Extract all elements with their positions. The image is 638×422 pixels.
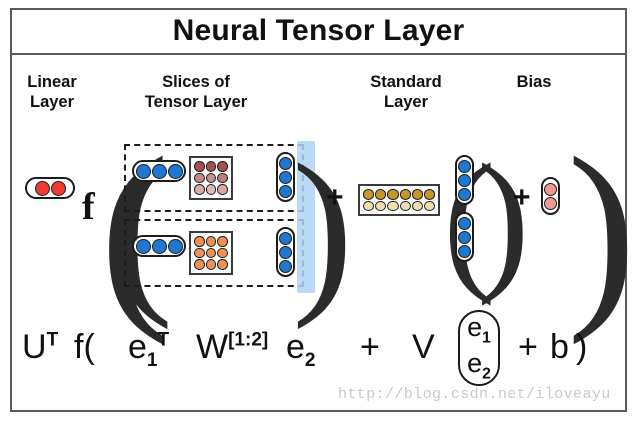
standard-layer-column-dot xyxy=(458,188,471,201)
watermark: http://blog.csdn.net/iloveayu xyxy=(338,386,611,403)
tensor-group-close-paren: ) xyxy=(292,136,353,320)
standard-layer-matrix-dot xyxy=(375,201,386,212)
standard-layer-matrix-dot xyxy=(424,201,435,212)
slice-1-matrix-dot xyxy=(194,173,205,184)
standard-layer-matrix-dot xyxy=(375,189,386,200)
caption-bias: Bias xyxy=(498,72,570,92)
standard-layer-column-dot xyxy=(458,245,471,258)
slice-2-matrix-dot xyxy=(206,259,217,270)
standard-layer-column-vector-group-2 xyxy=(455,212,474,262)
standard-layer-matrix-dot xyxy=(400,189,411,200)
slice-1-matrix-dot xyxy=(206,173,217,184)
slice-1-column-dot xyxy=(279,157,292,170)
bias-vector xyxy=(541,177,560,215)
page-title: Neural Tensor Layer xyxy=(173,14,465,48)
standard-layer-matrix-dot xyxy=(424,189,435,200)
slice-2-column-dot xyxy=(279,232,292,245)
slice-1-matrix-dot xyxy=(194,161,205,172)
formula-v: V xyxy=(412,330,435,364)
linear-layer-vector xyxy=(25,177,75,199)
standard-layer-column-vector-group-1 xyxy=(455,155,474,205)
standard-layer-matrix-dot xyxy=(363,201,374,212)
formula-b: b xyxy=(550,330,569,364)
caption-linear-layer: Linear Layer xyxy=(14,72,90,112)
slice-2-column-dot xyxy=(279,260,292,273)
slice-2-row-dot xyxy=(168,239,183,254)
activation-function-symbol: f xyxy=(82,188,95,226)
standard-vector-close-paren: ) xyxy=(477,141,530,299)
standard-layer-matrix-dot xyxy=(412,201,423,212)
standard-layer-column-dot xyxy=(458,231,471,244)
slice-1-row-vector xyxy=(132,160,186,182)
plus-operator-standard: + xyxy=(326,183,344,213)
standard-layer-matrix xyxy=(358,184,440,216)
formula-plus-1: + xyxy=(360,330,380,364)
slice-2-matrix-dot xyxy=(217,236,228,247)
diagram-page: Neural Tensor Layer Linear Layer Slices … xyxy=(0,0,638,422)
bias-dot xyxy=(544,183,557,196)
caption-standard-layer: Standard Layer xyxy=(345,72,467,112)
caption-slices-of-tensor-layer: Slices of Tensor Layer xyxy=(112,72,280,112)
slice-2-matrix-dot xyxy=(217,259,228,270)
slice-2-row-dot xyxy=(152,239,167,254)
formula-close-paren: ) xyxy=(576,330,587,364)
slice-2-matrix-dot xyxy=(206,248,217,259)
plus-operator-bias: + xyxy=(513,183,531,213)
slice-2-matrix-dot xyxy=(194,248,205,259)
standard-layer-matrix-dot xyxy=(400,201,411,212)
slice-2-matrix xyxy=(189,231,233,275)
title-bar: Neural Tensor Layer xyxy=(10,8,627,55)
standard-layer-matrix-dot xyxy=(412,189,423,200)
slice-1-matrix-dot xyxy=(217,184,228,195)
standard-layer-matrix-dot xyxy=(363,189,374,200)
formula-u: UT xyxy=(22,330,58,364)
standard-layer-column-dot xyxy=(458,174,471,187)
outer-close-paren: ) xyxy=(567,126,636,334)
slice-2-matrix-dot xyxy=(217,248,228,259)
slice-2-column-dot xyxy=(279,246,292,259)
slice-1-column-dot xyxy=(279,185,292,198)
formula-vec-e2: e2 xyxy=(467,350,491,382)
formula-f-open: f( xyxy=(74,330,95,364)
standard-layer-matrix-dot xyxy=(387,189,398,200)
slice-1-matrix-dot xyxy=(217,161,228,172)
slice-2-matrix-dot xyxy=(194,236,205,247)
linear-layer-dot xyxy=(51,181,66,196)
slice-1-matrix-dot xyxy=(206,184,217,195)
slice-2-matrix-dot xyxy=(206,236,217,247)
slice-1-row-dot xyxy=(136,164,151,179)
formula-e2: e2 xyxy=(286,330,316,370)
slice-1-matrix-dot xyxy=(206,161,217,172)
formula-entity-column-vector: e1 e2 xyxy=(458,310,500,386)
bias-dot xyxy=(544,197,557,210)
linear-layer-dot xyxy=(35,181,50,196)
formula-row: UT f( e1T W[1:2] e2 + V e1 e2 + b ) xyxy=(22,318,612,390)
formula-vec-e1: e1 xyxy=(467,314,491,346)
slice-1-row-dot xyxy=(168,164,183,179)
slice-1-row-dot xyxy=(152,164,167,179)
formula-e1-transpose: e1T xyxy=(128,330,169,370)
standard-layer-matrix-dot xyxy=(387,201,398,212)
formula-plus-2: + xyxy=(518,330,538,364)
slice-1-matrix xyxy=(189,156,233,200)
slice-1-matrix-dot xyxy=(194,184,205,195)
formula-w-slices: W[1:2] xyxy=(196,330,268,364)
standard-layer-column-dot xyxy=(458,217,471,230)
slice-1-matrix-dot xyxy=(217,173,228,184)
standard-layer-column-dot xyxy=(458,160,471,173)
slice-2-row-dot xyxy=(136,239,151,254)
slice-2-row-vector xyxy=(132,235,186,257)
slice-1-column-dot xyxy=(279,171,292,184)
slice-2-matrix-dot xyxy=(194,259,205,270)
